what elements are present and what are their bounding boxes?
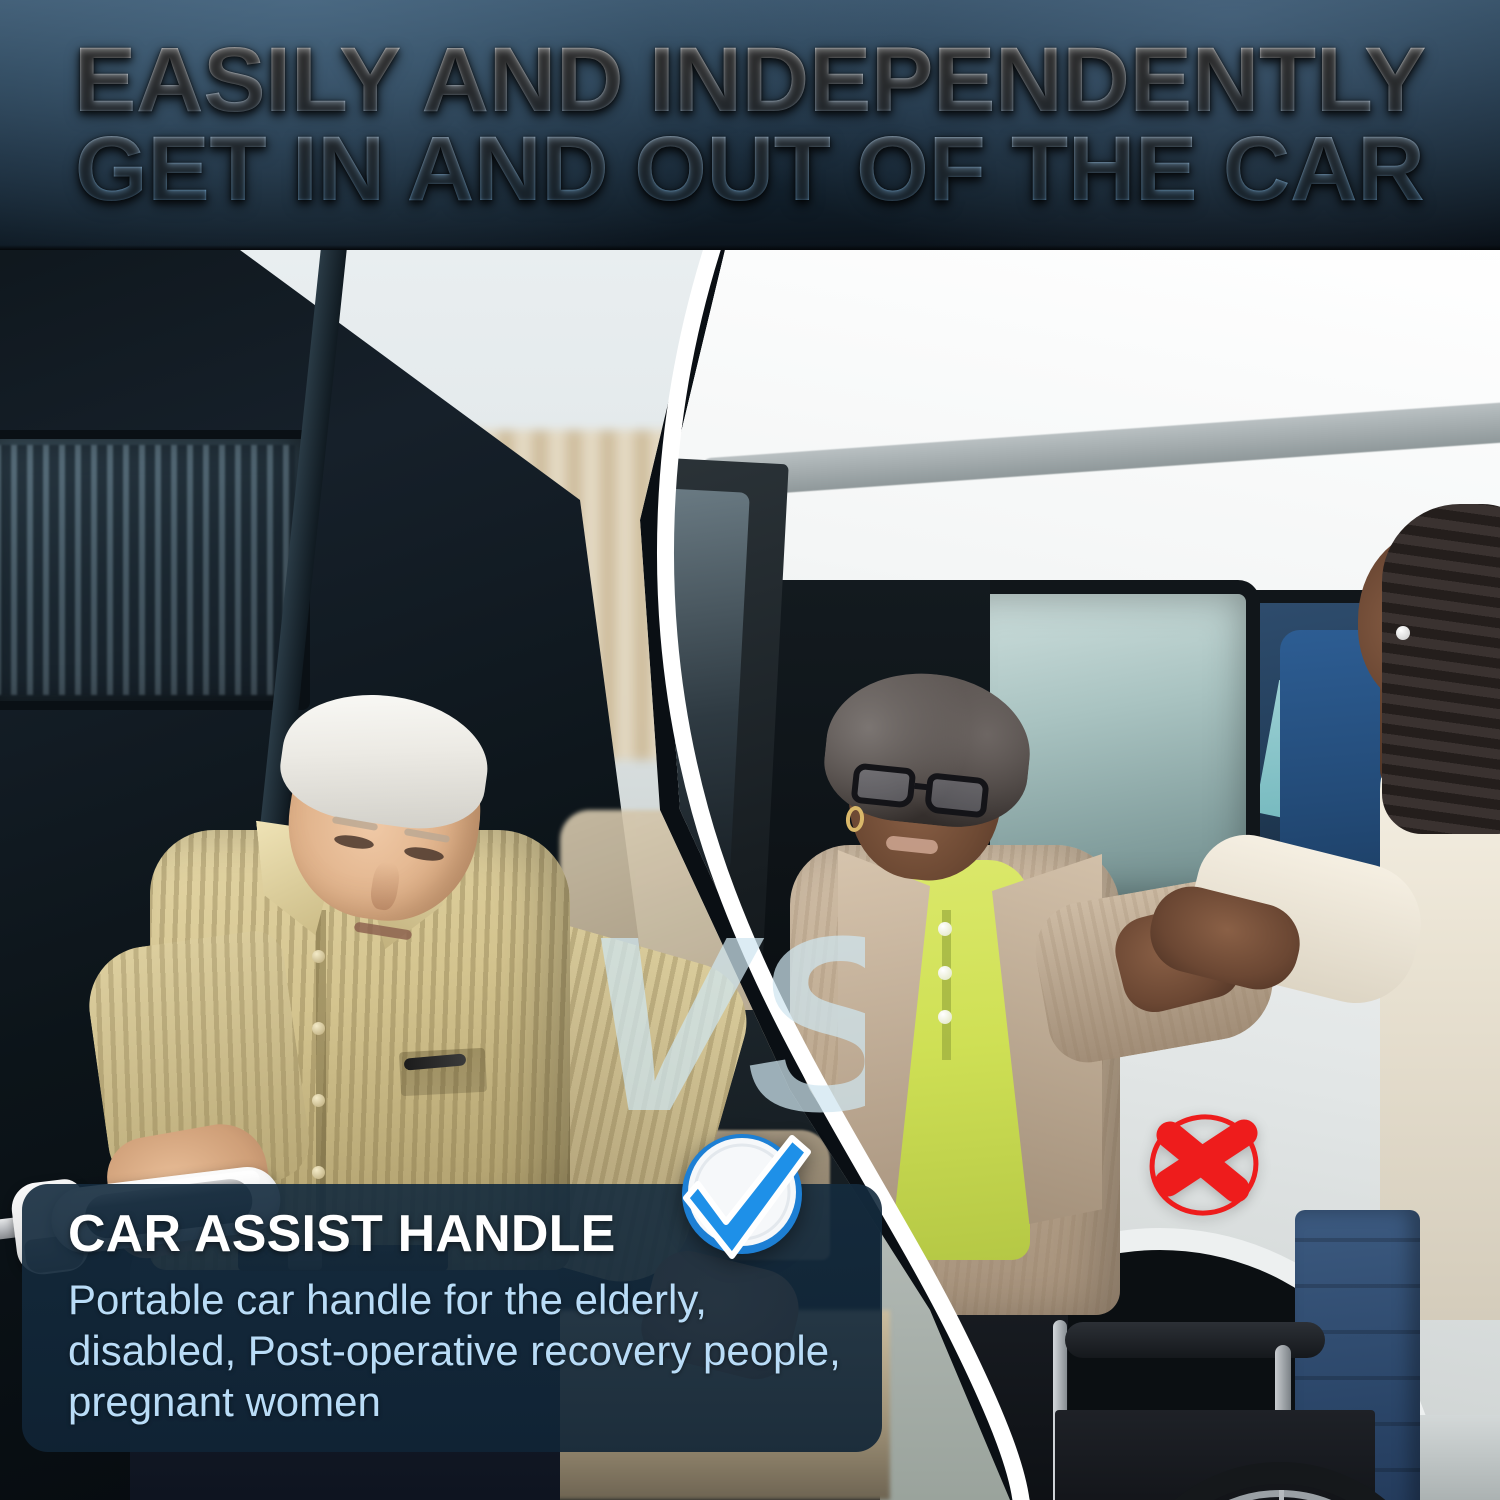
wheelchair (975, 1250, 1500, 1500)
caregiver-earring (1396, 626, 1410, 640)
eyeglass-lens-left (851, 762, 917, 808)
headline-block: EASILY AND INDEPENDENTLY GET IN AND OUT … (0, 0, 1500, 250)
woman-shirt-button (938, 966, 952, 980)
product-description: Portable car handle for the elderly, dis… (68, 1274, 852, 1428)
woman-shirt-button (938, 1010, 952, 1024)
caregiver-braided-hair (1382, 504, 1500, 834)
man-shirt-button (312, 1022, 325, 1035)
man-shirt-button (312, 1166, 325, 1179)
red-x-icon (1140, 1105, 1268, 1223)
wheelchair-spoke (1279, 1490, 1284, 1500)
left-window-reflection (0, 445, 295, 695)
eyeglass-lens-right (924, 772, 990, 818)
product-marketing-image: EASILY AND INDEPENDENTLY GET IN AND OUT … (0, 0, 1500, 1500)
man-shirt-button (312, 1094, 325, 1107)
headline-line-2: GET IN AND OUT OF THE CAR (75, 126, 1425, 213)
man-shirt-button (312, 950, 325, 963)
headline-line-1: EASILY AND INDEPENDENTLY (74, 37, 1426, 124)
left-car-window (0, 430, 310, 710)
header-banner: EASILY AND INDEPENDENTLY GET IN AND OUT … (0, 0, 1500, 250)
woman-shirt-button (938, 922, 952, 936)
blue-check-icon (676, 1128, 811, 1268)
